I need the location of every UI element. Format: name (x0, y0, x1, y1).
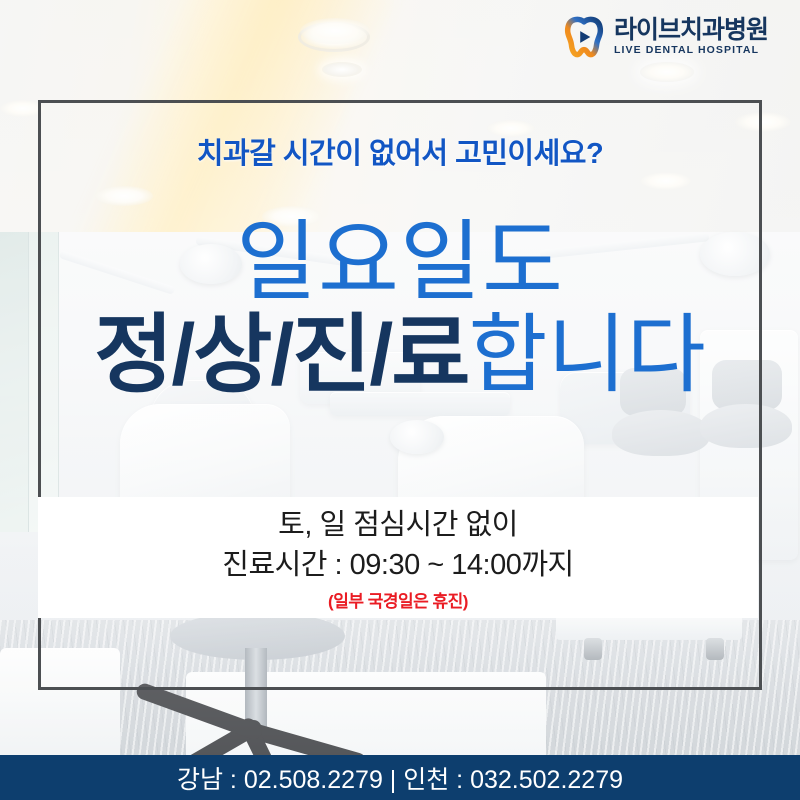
downlight-icon (95, 186, 153, 206)
brand-logo[interactable]: 라이브치과병원 LIVE DENTAL HOSPITAL (563, 16, 768, 58)
hours-line-2: 진료시간 : 09:30 ~ 14:00까지 (38, 545, 758, 585)
tooth-play-icon (563, 16, 605, 58)
downlight-icon (640, 172, 692, 190)
downlight-icon (735, 112, 791, 132)
downlight-icon (0, 100, 46, 117)
brand-name-en: LIVE DENTAL HOSPITAL (614, 45, 768, 56)
phone-numbers[interactable]: 강남 : 02.508.2279 | 인천 : 032.502.2279 (177, 760, 623, 796)
brand-wordmark: 라이브치과병원 LIVE DENTAL HOSPITAL (614, 18, 768, 56)
promo-poster: 라이브치과병원 LIVE DENTAL HOSPITAL 치과갈 시간이 없어서… (0, 0, 800, 800)
contact-bar: 강남 : 02.508.2279 | 인천 : 032.502.2279 (0, 755, 800, 800)
hero-line-2-light: 합니다 (468, 307, 705, 403)
caster-icon (584, 638, 602, 660)
downlight-icon (300, 18, 370, 44)
hero-line-2: 정/상/진/료합니다 (0, 312, 800, 398)
brand-name-ko: 라이브치과병원 (614, 18, 768, 43)
hero-line-2-strong: 정/상/진/료 (94, 307, 468, 403)
hero-line-1: 일요일도 (0, 218, 800, 306)
downlight-icon (322, 62, 362, 77)
operator-stool (700, 404, 792, 448)
side-cabinet (0, 648, 120, 768)
hours-line-1: 토, 일 점심시간 없이 (38, 505, 758, 545)
downlight-icon (640, 62, 694, 82)
headline: 치과갈 시간이 없어서 고민이세요? (0, 130, 800, 172)
hours-info-box: 토, 일 점심시간 없이 진료시간 : 09:30 ~ 14:00까지 (일부 … (38, 497, 758, 618)
operator-stool (612, 410, 710, 456)
holiday-note: (일부 국경일은 휴진) (38, 587, 758, 612)
dental-lamp (390, 420, 444, 454)
caster-icon (706, 638, 724, 660)
